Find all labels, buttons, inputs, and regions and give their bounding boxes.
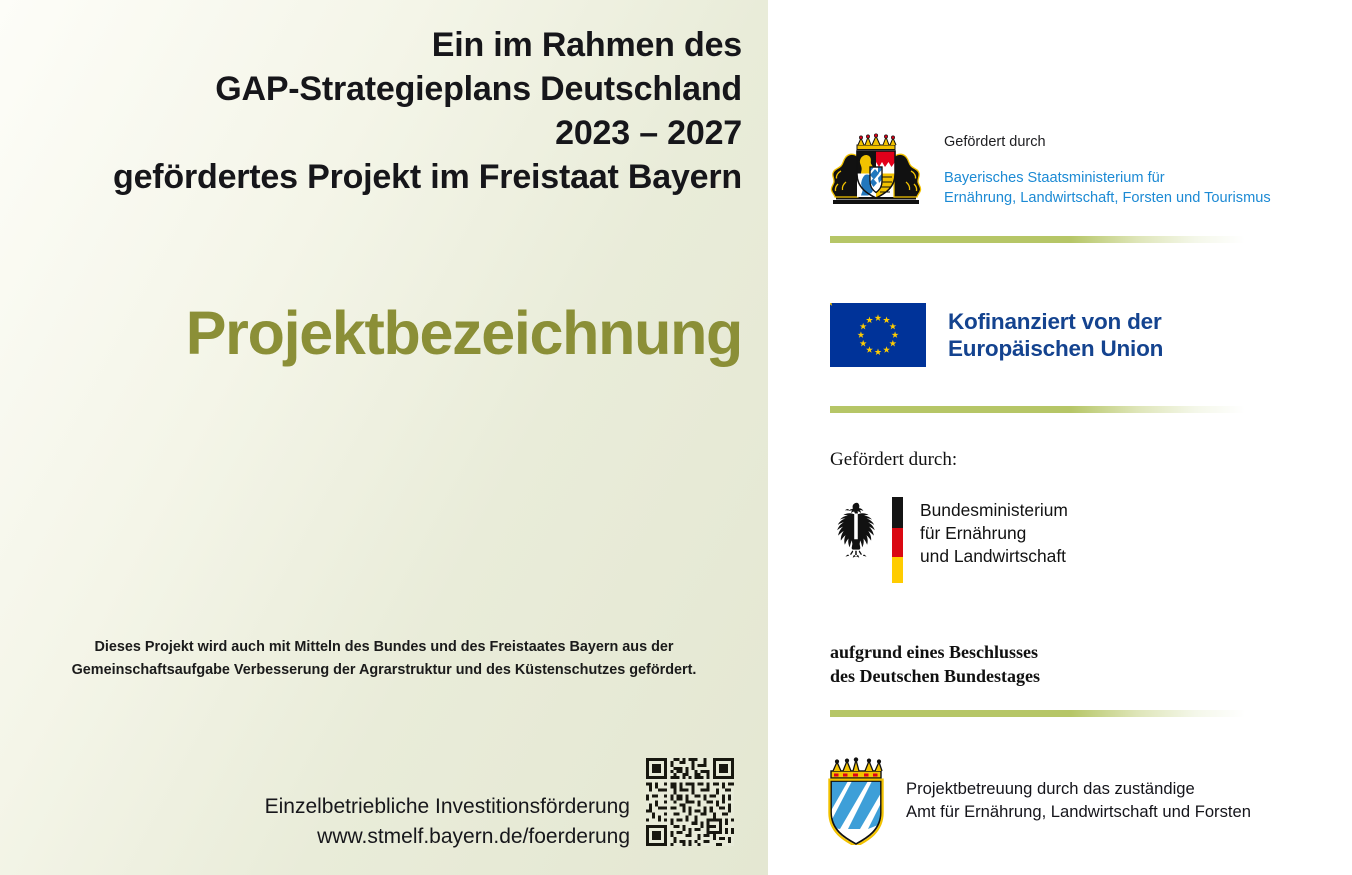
bundestag-line-2: des Deutschen Bundestages xyxy=(830,665,1040,689)
aelf-logo-block: Projektbetreuung durch das zuständige Am… xyxy=(826,757,1251,845)
eu-text-line-2: Europäischen Union xyxy=(948,335,1163,362)
qr-code-icon[interactable] xyxy=(646,758,734,846)
stmelf-text: Gefördert durch Bayerisches Staatsminist… xyxy=(944,132,1271,209)
german-federal-eagle-icon xyxy=(828,500,884,558)
programme-name: Einzelbetriebliche Investitionsförderung xyxy=(180,792,630,822)
funding-footnote-line-2: Gemeinschaftsaufgabe Verbesserung der Ag… xyxy=(24,659,744,682)
bmel-name-line-2: für Ernährung xyxy=(920,522,1068,545)
bavarian-state-coat-of-arms-icon xyxy=(826,132,926,208)
aelf-line-2: Amt für Ernährung, Landwirtschaft und Fo… xyxy=(906,801,1251,824)
bavarian-lozenge-shield-icon xyxy=(826,757,886,845)
funding-footnote-line-1: Dieses Projekt wird auch mit Mitteln des… xyxy=(24,636,744,659)
stmelf-logo-block: Gefördert durch Bayerisches Staatsminist… xyxy=(826,132,1271,209)
stmelf-ministry-line-1: Bayerisches Staatsministerium für xyxy=(944,169,1271,189)
left-panel: Ein im Rahmen des GAP-Strategieplans Deu… xyxy=(0,0,768,875)
bmel-name-line-3: und Landwirtschaft xyxy=(920,545,1068,568)
bundestag-line-1: aufgrund eines Beschlusses xyxy=(830,641,1040,665)
eu-text-line-1: Kofinanziert von der xyxy=(948,308,1163,335)
aelf-line-1: Projektbetreuung durch das zuständige xyxy=(906,778,1251,801)
stmelf-ministry-name: Bayerisches Staatsministerium für Ernähr… xyxy=(944,169,1271,209)
bundestag-resolution-text: aufgrund eines Beschlusses des Deutschen… xyxy=(830,641,1040,689)
bmel-ministry-name: Bundesministerium für Ernährung und Land… xyxy=(920,497,1068,568)
divider-3 xyxy=(830,710,1245,717)
headline-line-3: 2023 – 2027 xyxy=(42,112,742,156)
headline-line-2: GAP-Strategieplans Deutschland xyxy=(42,68,742,112)
programme-url[interactable]: www.stmelf.bayern.de/foerderung xyxy=(180,822,630,852)
headline-line-1: Ein im Rahmen des xyxy=(42,24,742,68)
stmelf-funded-by-label: Gefördert durch xyxy=(944,134,1271,151)
programme-info: Einzelbetriebliche Investitionsförderung… xyxy=(180,792,630,853)
eu-cofinanced-text: Kofinanziert von der Europäischen Union xyxy=(948,308,1163,363)
poster-canvas: Ein im Rahmen des GAP-Strategieplans Deu… xyxy=(0,0,1352,875)
bmel-name-line-1: Bundesministerium xyxy=(920,499,1068,522)
aelf-text: Projektbetreuung durch das zuständige Am… xyxy=(906,778,1251,824)
bmel-funded-by-label: Gefördert durch: xyxy=(830,449,957,471)
bmel-logo-block: Bundesministerium für Ernährung und Land… xyxy=(828,497,1068,583)
funding-footnote: Dieses Projekt wird auch mit Mitteln des… xyxy=(24,636,744,683)
german-flag-bar-icon xyxy=(892,497,903,583)
right-column: Gefördert durch Bayerisches Staatsminist… xyxy=(768,0,1352,875)
eu-logo-block: Kofinanziert von der Europäischen Union xyxy=(830,303,1163,367)
headline-line-4: gefördertes Projekt im Freistaat Bayern xyxy=(42,156,742,200)
stmelf-ministry-line-2: Ernährung, Landwirtschaft, Forsten und T… xyxy=(944,189,1271,209)
european-union-flag-icon xyxy=(830,303,926,367)
divider-1 xyxy=(830,236,1245,243)
project-title: Projektbezeichnung xyxy=(22,298,742,368)
divider-2 xyxy=(830,406,1245,413)
headline-block: Ein im Rahmen des GAP-Strategieplans Deu… xyxy=(42,24,742,199)
